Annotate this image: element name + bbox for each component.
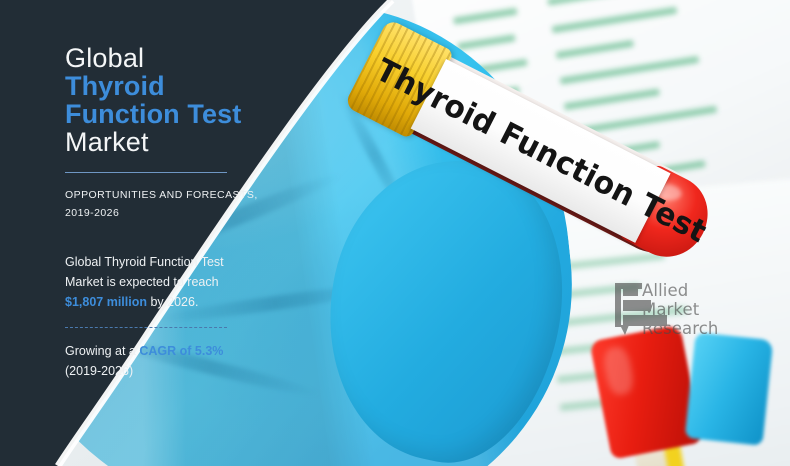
title-line-2: Function Test xyxy=(65,100,300,128)
stat-text-3: by 2026. xyxy=(147,295,198,309)
stat-text-2: Market is expected to reach xyxy=(65,272,300,292)
growth-statement: Growing at a CAGR of 5.3% (2019-2026) xyxy=(65,341,300,382)
allied-market-research-logo: Allied Market Research xyxy=(612,281,742,339)
growth-period: (2019-2026) xyxy=(65,361,300,381)
title-market: Market xyxy=(65,128,300,156)
growth-prefix: Growing at a xyxy=(65,344,139,358)
stat-line-3: $1,807 million by 2026. xyxy=(65,292,300,312)
logo-line-3: Research xyxy=(642,319,718,338)
market-value-statement: Global Thyroid Function Test Market is e… xyxy=(65,252,300,313)
logo-line-2: Market xyxy=(642,300,718,319)
infographic-banner: Thyroid Function Test Global Thyroid Fun… xyxy=(0,0,790,466)
growth-value: CAGR of 5.3% xyxy=(139,344,223,358)
stat-value: $1,807 million xyxy=(65,295,147,309)
subtitle-line-1: OPPORTUNITIES AND FORECASTS, xyxy=(65,187,300,204)
title-global: Global xyxy=(65,44,300,72)
subtitle-line-2: 2019-2026 xyxy=(65,205,300,222)
logo-line-1: Allied xyxy=(642,281,718,300)
growth-line: Growing at a CAGR of 5.3% xyxy=(65,341,300,361)
divider-solid xyxy=(65,172,227,173)
title-line-1: Thyroid xyxy=(65,72,300,100)
logo-text: Allied Market Research xyxy=(642,281,718,338)
panel-content: Global Thyroid Function Test Market OPPO… xyxy=(0,0,300,466)
divider-dashed xyxy=(65,327,227,328)
stat-text-1: Global Thyroid Function Test xyxy=(65,252,300,272)
